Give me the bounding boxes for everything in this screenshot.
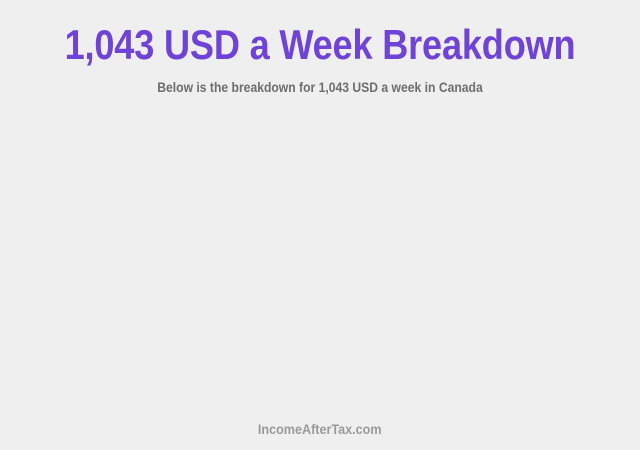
page-title: 1,043 USD a Week Breakdown: [45, 0, 595, 68]
footer-brand-label: IncomeAfterTax.com: [258, 421, 382, 437]
breakdown-page: 1,043 USD a Week Breakdown Below is the …: [0, 0, 640, 450]
page-subtitle: Below is the breakdown for 1,043 USD a w…: [32, 68, 608, 96]
page-header: 1,043 USD a Week Breakdown Below is the …: [0, 0, 640, 96]
site-footer: IncomeAfterTax.com: [0, 421, 640, 439]
breakdown-content-area: [0, 118, 640, 410]
